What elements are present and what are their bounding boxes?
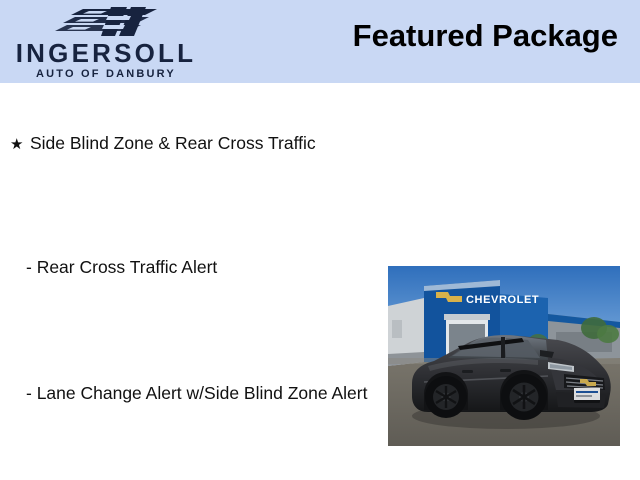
ingersoll-wing-emblem-icon	[45, 6, 165, 38]
svg-text:CHEVROLET: CHEVROLET	[466, 294, 539, 306]
page-header: INGERSOLL AUTO OF DANBURY Featured Packa…	[0, 0, 640, 83]
feature-bullet-main: ★Side Blind Zone & Rear Cross Traffic	[10, 133, 370, 155]
feature-bullet-main-label: Side Blind Zone & Rear Cross Traffic	[30, 133, 316, 153]
page-title: Featured Package	[353, 19, 618, 53]
vehicle-photo: CHEVROLET	[388, 266, 620, 446]
feature-sub-bullet-2: - Lane Change Alert w/Side Blind Zone Al…	[26, 382, 371, 404]
slide-body: ★Side Blind Zone & Rear Cross Traffic - …	[0, 83, 640, 480]
brand-tagline: AUTO OF DANBURY	[8, 69, 204, 80]
dealer-brand-logo: INGERSOLL AUTO OF DANBURY	[0, 2, 210, 82]
brand-name: INGERSOLL	[8, 40, 204, 66]
star-bullet-icon: ★	[10, 136, 30, 155]
feature-sub-bullet-1: - Rear Cross Traffic Alert	[26, 256, 371, 278]
